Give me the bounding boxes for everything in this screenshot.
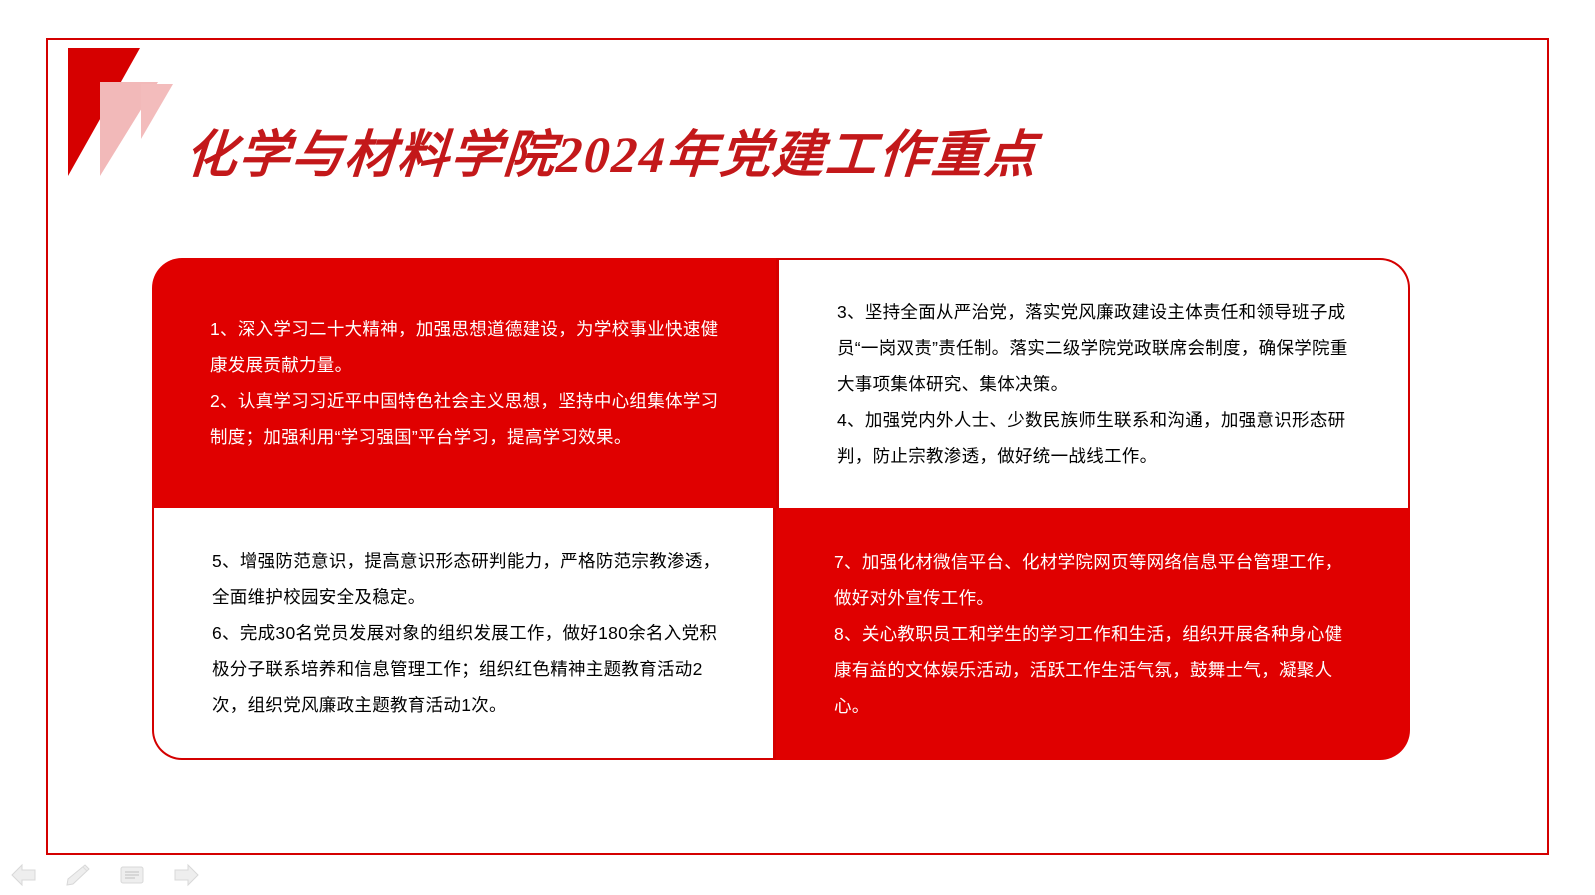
back-arrow-icon[interactable]: [10, 862, 38, 888]
page-title: 化学与材料学院2024年党建工作重点: [183, 113, 1040, 187]
quadrant-top-right-text: 3、坚持全面从严治党，落实党风廉政建设主体责任和领导班子成员“一岗双责”责任制。…: [837, 294, 1356, 474]
list-item: 5、增强防范意识，提高意识形态研判能力，严格防范宗教渗透，全面维护校园安全及稳定…: [212, 543, 725, 615]
decorative-pink-triangle: [141, 84, 173, 139]
slide-canvas: 化学与材料学院2024年党建工作重点 1、深入学习二十大精神，加强思想道德建设，…: [0, 0, 1595, 895]
content-grid: 1、深入学习二十大精神，加强思想道德建设，为学校事业快速健康发展贡献力量。 2、…: [152, 258, 1410, 760]
quadrant-top-right: 3、坚持全面从严治党，落实党风廉政建设主体责任和领导班子成员“一岗双责”责任制。…: [776, 258, 1410, 508]
list-item: 8、关心教职员工和学生的学习工作和生活，组织开展各种身心健康有益的文体娱乐活动，…: [834, 616, 1358, 724]
list-item: 1、深入学习二十大精神，加强思想道德建设，为学校事业快速健康发展贡献力量。: [210, 311, 728, 383]
quadrant-top-left-text: 1、深入学习二十大精神，加强思想道德建设，为学校事业快速健康发展贡献力量。 2、…: [210, 311, 728, 455]
quadrant-bottom-right-text: 7、加强化材微信平台、化材学院网页等网络信息平台管理工作，做好对外宣传工作。 8…: [834, 544, 1358, 724]
presenter-toolbar: [10, 862, 200, 888]
list-item: 7、加强化材微信平台、化材学院网页等网络信息平台管理工作，做好对外宣传工作。: [834, 544, 1358, 616]
quadrant-top-left: 1、深入学习二十大精神，加强思想道德建设，为学校事业快速健康发展贡献力量。 2、…: [152, 258, 776, 508]
quadrant-bottom-left: 5、增强防范意识，提高意识形态研判能力，严格防范宗教渗透，全面维护校园安全及稳定…: [152, 508, 776, 760]
list-item: 2、认真学习习近平中国特色社会主义思想，坚持中心组集体学习制度；加强利用“学习强…: [210, 383, 728, 455]
list-item: 4、加强党内外人士、少数民族师生联系和沟通，加强意识形态研判，防止宗教渗透，做好…: [837, 402, 1356, 474]
pencil-icon[interactable]: [64, 862, 92, 888]
notes-icon[interactable]: [118, 862, 146, 888]
quadrant-bottom-right: 7、加强化材微信平台、化材学院网页等网络信息平台管理工作，做好对外宣传工作。 8…: [776, 508, 1410, 760]
forward-arrow-icon[interactable]: [172, 862, 200, 888]
quadrant-bottom-left-text: 5、增强防范意识，提高意识形态研判能力，严格防范宗教渗透，全面维护校园安全及稳定…: [212, 543, 725, 723]
list-item: 3、坚持全面从严治党，落实党风廉政建设主体责任和领导班子成员“一岗双责”责任制。…: [837, 294, 1356, 402]
list-item: 6、完成30名党员发展对象的组织发展工作，做好180余名入党积极分子联系培养和信…: [212, 615, 725, 723]
